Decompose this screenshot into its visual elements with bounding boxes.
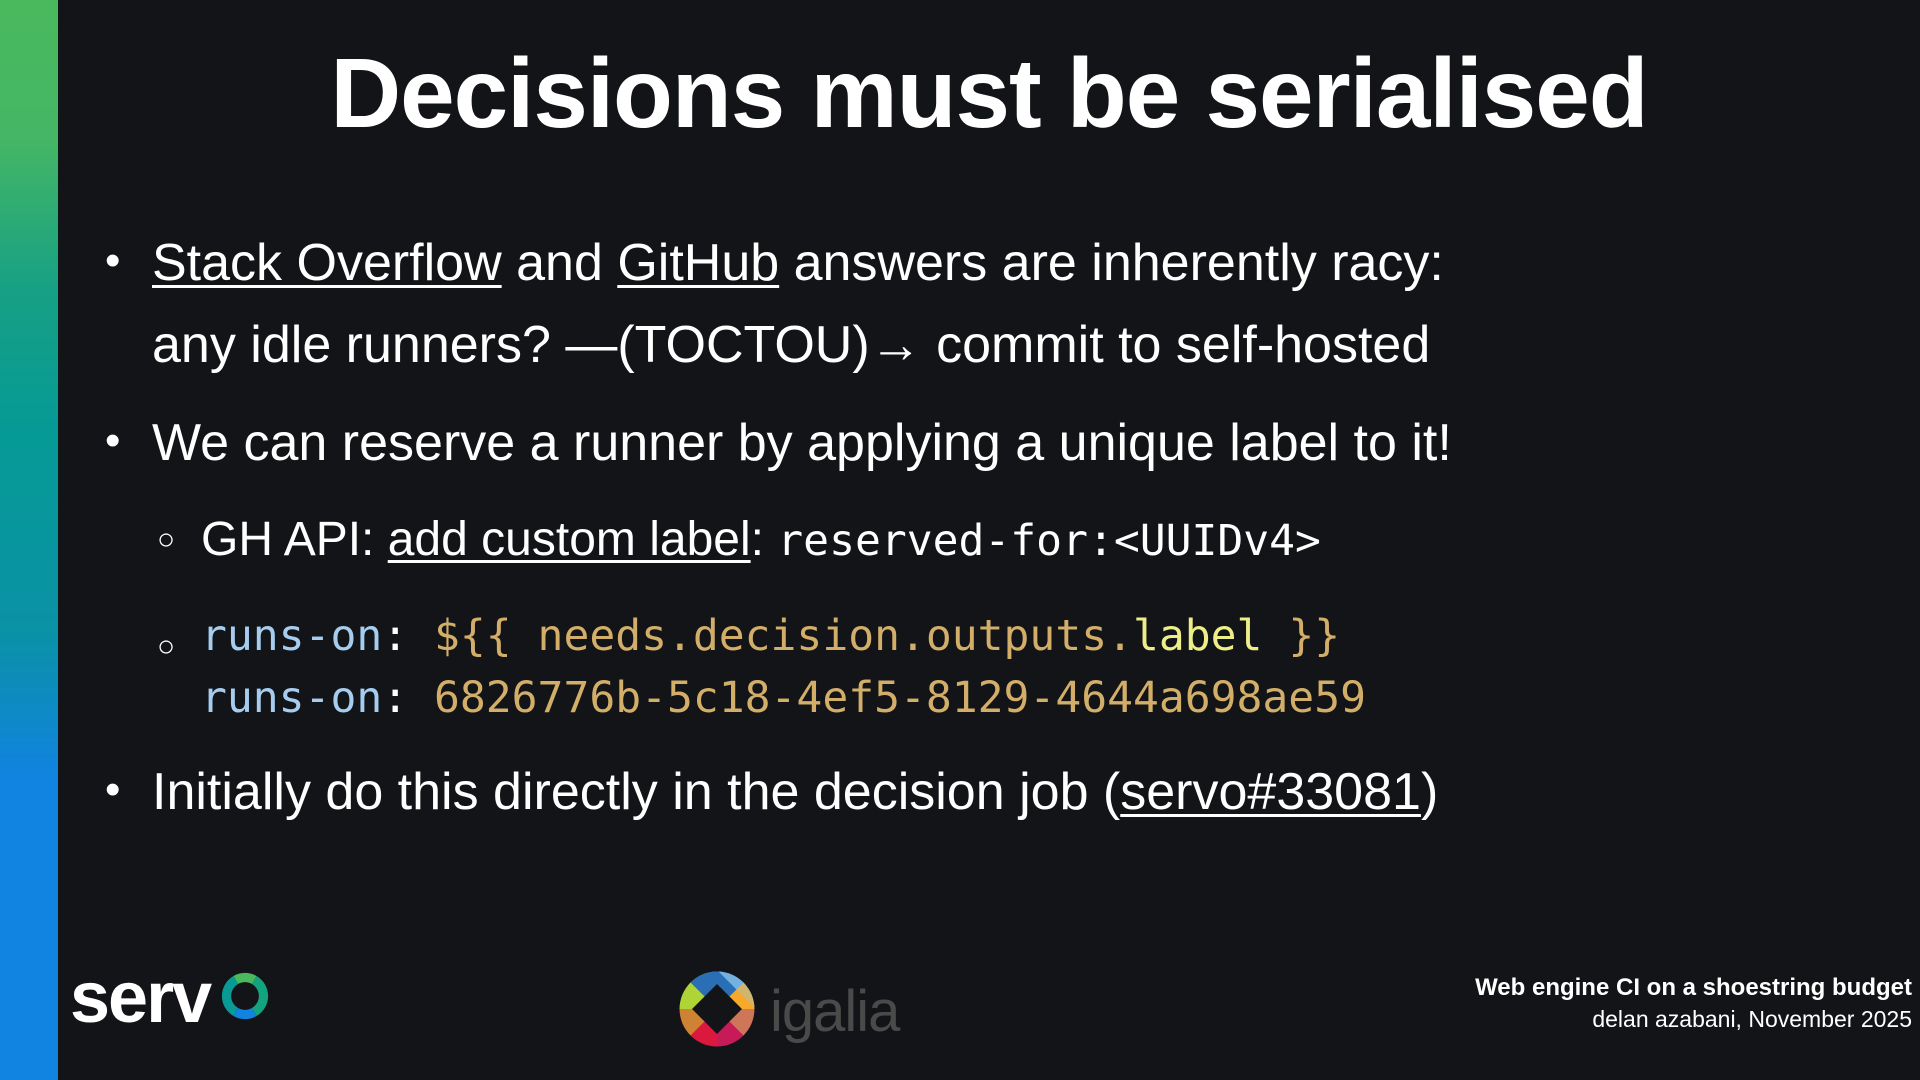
sub-bullet-gh-api: ○ GH API: add custom label: reserved-for…	[157, 498, 1865, 583]
igalia-mark-icon	[678, 970, 756, 1053]
bullet-item-3: • Initially do this directly in the deci…	[105, 751, 1865, 833]
bullet-item-2: • We can reserve a runner by applying a …	[105, 402, 1865, 484]
bullet-3-prefix: Initially do this directly in the decisi…	[152, 763, 1120, 821]
footer-meta: Web engine CI on a shoestring budget del…	[1475, 972, 1912, 1034]
yaml-value-uuid: 6826776b-5c18-4ef5-8129-4644a698ae59	[434, 673, 1366, 723]
link-add-custom-label[interactable]: add custom label	[388, 513, 751, 566]
footer-author-date: delan azabani, November 2025	[1475, 1004, 1912, 1034]
spacer	[105, 729, 1865, 751]
servo-wordmark: serv	[70, 962, 210, 1034]
bullet-marker: •	[105, 222, 152, 300]
link-servo-issue[interactable]: servo#33081	[1120, 763, 1421, 821]
slide-footer: serv	[58, 940, 1920, 1080]
bullet-marker: •	[105, 751, 152, 829]
slide-content: • Stack Overflow and GitHub answers are …	[105, 222, 1865, 833]
page-title: Decisions must be serialised	[58, 42, 1920, 145]
sub-bullet-marker: ○	[157, 605, 201, 689]
servo-o-icon	[212, 963, 278, 1034]
bullet-1-text: Stack Overflow and GitHub answers are in…	[152, 222, 1865, 386]
link-stack-overflow[interactable]: Stack Overflow	[152, 234, 502, 292]
spacer	[105, 386, 1865, 402]
igalia-wordmark: igalia	[770, 983, 899, 1041]
yaml-value-highlight: label	[1133, 611, 1262, 661]
bullet-3-text: Initially do this directly in the decisi…	[152, 751, 1865, 833]
sub-bullet-gh-api-text: GH API: add custom label: reserved-for:<…	[201, 498, 1865, 583]
yaml-key: runs-on	[201, 673, 382, 723]
bullet-item-1: • Stack Overflow and GitHub answers are …	[105, 222, 1865, 386]
yaml-value-suffix: }}	[1262, 611, 1340, 661]
spacer	[105, 583, 1865, 605]
bullet-1-line-2: any idle runners? —(TOCTOU)→ commit to s…	[152, 304, 1865, 386]
sub-bullet-runs-on: ○ runs-on: ${{ needs.decision.outputs.la…	[157, 605, 1865, 729]
gh-api-colon: :	[751, 513, 778, 566]
bullet-1-line-1: Stack Overflow and GitHub answers are in…	[152, 222, 1865, 304]
bullet-2-text: We can reserve a runner by applying a un…	[152, 402, 1865, 484]
label-format-code: reserved-for:<UUIDv4>	[777, 516, 1321, 566]
spacer	[105, 484, 1865, 498]
yaml-punct: :	[382, 673, 434, 723]
footer-talk-title: Web engine CI on a shoestring budget	[1475, 972, 1912, 1004]
servo-logo: serv	[70, 962, 278, 1034]
gh-api-prefix: GH API:	[201, 513, 388, 566]
yaml-code-block: runs-on: ${{ needs.decision.outputs.labe…	[201, 605, 1865, 729]
bullet-3-suffix: )	[1421, 763, 1438, 821]
bullet-1-tail: answers are inherently racy:	[779, 234, 1444, 292]
link-github[interactable]: GitHub	[617, 234, 779, 292]
yaml-value-prefix: ${{ needs.decision.outputs.	[434, 611, 1133, 661]
slide: Decisions must be serialised • Stack Ove…	[0, 0, 1920, 1080]
accent-gradient-bar	[0, 0, 58, 1080]
bullet-1-mid: and	[502, 234, 618, 292]
yaml-punct: :	[382, 611, 434, 661]
igalia-logo: igalia	[678, 970, 899, 1053]
code-line-resolved: runs-on: 6826776b-5c18-4ef5-8129-4644a69…	[201, 667, 1865, 729]
bullet-marker: •	[105, 402, 152, 480]
code-line-template: runs-on: ${{ needs.decision.outputs.labe…	[201, 605, 1865, 667]
yaml-key: runs-on	[201, 611, 382, 661]
sub-bullet-marker: ○	[157, 498, 201, 582]
